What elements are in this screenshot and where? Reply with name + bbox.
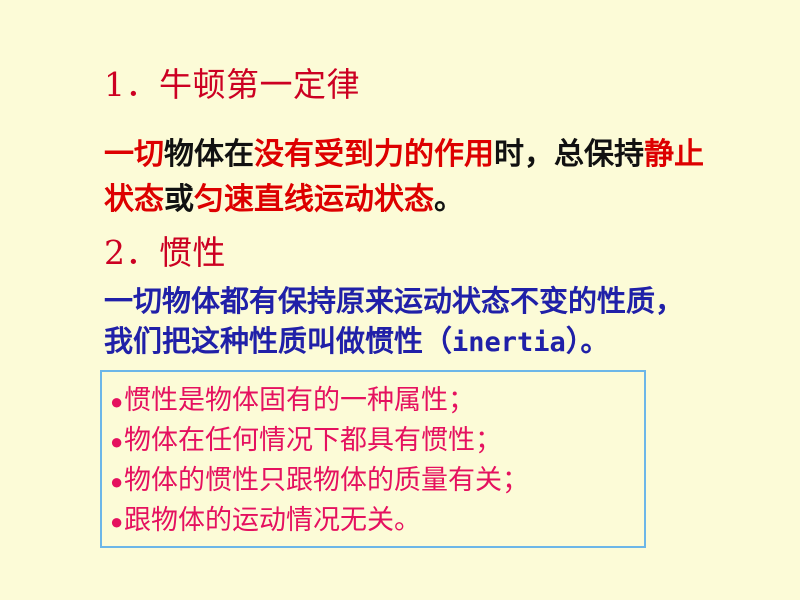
definition-line-2-suffix: ）。	[566, 324, 610, 358]
statement-segment-1: 一切	[104, 137, 164, 172]
list-item: ● 物体的惯性只跟物体的质量有关；	[110, 461, 644, 501]
slide-canvas: 1．牛顿第一定律 一切物体在没有受到力的作用时，总保持静止状态或匀速直线运动状态…	[0, 0, 800, 600]
inertia-definition: 一切物体都有保持原来运动状态不变的性质， 我们把这种性质叫做惯性（inertia…	[104, 281, 724, 363]
newton-first-law-statement: 一切物体在没有受到力的作用时，总保持静止状态或匀速直线运动状态。	[104, 132, 724, 222]
bullet-dot-icon: ●	[110, 502, 124, 542]
list-item: ● 跟物体的运动情况无关。	[110, 501, 644, 541]
definition-term-inertia: inertia	[452, 327, 566, 358]
statement-segment-7: 或	[164, 182, 194, 217]
list-item-label: 物体在任何情况下都具有惯性；	[124, 421, 502, 461]
bullet-dot-icon: ●	[110, 462, 124, 502]
statement-segment-4: 时，	[494, 137, 554, 172]
bullet-dot-icon: ●	[110, 422, 124, 462]
bullet-dot-icon: ●	[110, 382, 124, 422]
inertia-properties-box: ● 惯性是物体固有的一种属性； ● 物体在任何情况下都具有惯性； ● 物体的惯性…	[100, 370, 646, 548]
list-item: ● 惯性是物体固有的一种属性；	[110, 381, 644, 421]
statement-segment-8: 匀速直线运动状态	[194, 182, 434, 217]
list-item: ● 物体在任何情况下都具有惯性；	[110, 421, 644, 461]
definition-line-2-prefix: 我们把这种性质叫做惯性（	[104, 324, 452, 358]
statement-segment-2: 物体在	[164, 137, 254, 172]
statement-segment-5: 总保持	[554, 137, 644, 172]
heading-newton-first-law: 1．牛顿第一定律	[104, 66, 360, 104]
list-item-label: 惯性是物体固有的一种属性；	[124, 381, 475, 421]
statement-segment-9: 。	[434, 182, 464, 217]
statement-segment-3: 没有受到力的作用	[254, 137, 494, 172]
list-item-label: 跟物体的运动情况无关。	[124, 501, 421, 541]
heading-inertia: 2．惯性	[104, 234, 226, 272]
list-item-label: 物体的惯性只跟物体的质量有关；	[124, 461, 529, 501]
definition-line-1: 一切物体都有保持原来运动状态不变的性质，	[104, 284, 684, 318]
